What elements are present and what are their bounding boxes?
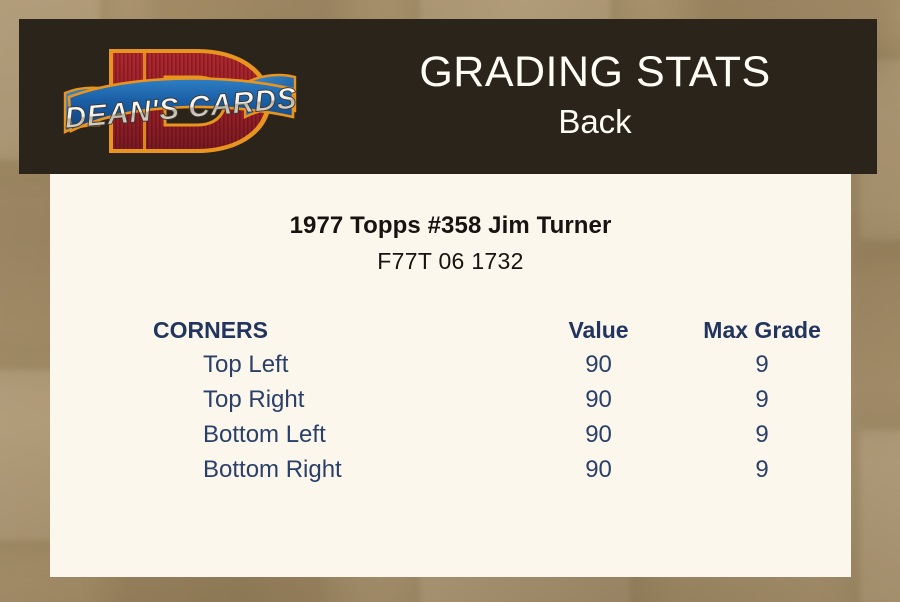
row-max-grade: 9	[673, 347, 851, 382]
column-header-max-grade: Max Grade	[673, 313, 851, 347]
table-header-row: CORNERS Value Max Grade	[50, 313, 851, 347]
row-label: Bottom Right	[50, 452, 524, 487]
row-label: Bottom Left	[50, 417, 524, 452]
page-title: GRADING STATS	[419, 50, 770, 95]
row-max-grade: 9	[673, 452, 851, 487]
row-max-grade: 9	[673, 417, 851, 452]
grading-stats-table: CORNERS Value Max Grade Top Left 90 9 To…	[50, 313, 851, 487]
background-card-decor	[855, 250, 900, 420]
table-body: Top Left 90 9 Top Right 90 9 Bottom Left…	[50, 347, 851, 487]
table-row: Top Right 90 9	[50, 382, 851, 417]
row-value: 90	[524, 347, 673, 382]
row-label: Top Left	[50, 347, 524, 382]
row-value: 90	[524, 382, 673, 417]
content-panel: 1977 Topps #358 Jim Turner F77T 06 1732 …	[50, 174, 851, 577]
row-max-grade: 9	[673, 382, 851, 417]
row-value: 90	[524, 452, 673, 487]
card-serial: F77T 06 1732	[50, 248, 851, 275]
table-header: CORNERS Value Max Grade	[50, 313, 851, 347]
column-header-corners: CORNERS	[50, 313, 524, 347]
table-row: Bottom Left 90 9	[50, 417, 851, 452]
background-card-decor	[420, 575, 630, 602]
page-root: DEAN'S CARDS GRADING STATS Back 1977 Top…	[0, 0, 900, 602]
deans-cards-logo[interactable]: DEAN'S CARDS	[47, 31, 317, 171]
table-row: Top Left 90 9	[50, 347, 851, 382]
header-title-group: GRADING STATS Back	[319, 19, 871, 174]
header-bar: DEAN'S CARDS GRADING STATS Back	[19, 19, 877, 174]
card-title: 1977 Topps #358 Jim Turner	[50, 212, 851, 240]
table-row: Bottom Right 90 9	[50, 452, 851, 487]
column-header-value: Value	[524, 313, 673, 347]
row-value: 90	[524, 417, 673, 452]
background-card-decor	[860, 430, 900, 602]
page-subtitle: Back	[558, 101, 631, 142]
row-label: Top Right	[50, 382, 524, 417]
